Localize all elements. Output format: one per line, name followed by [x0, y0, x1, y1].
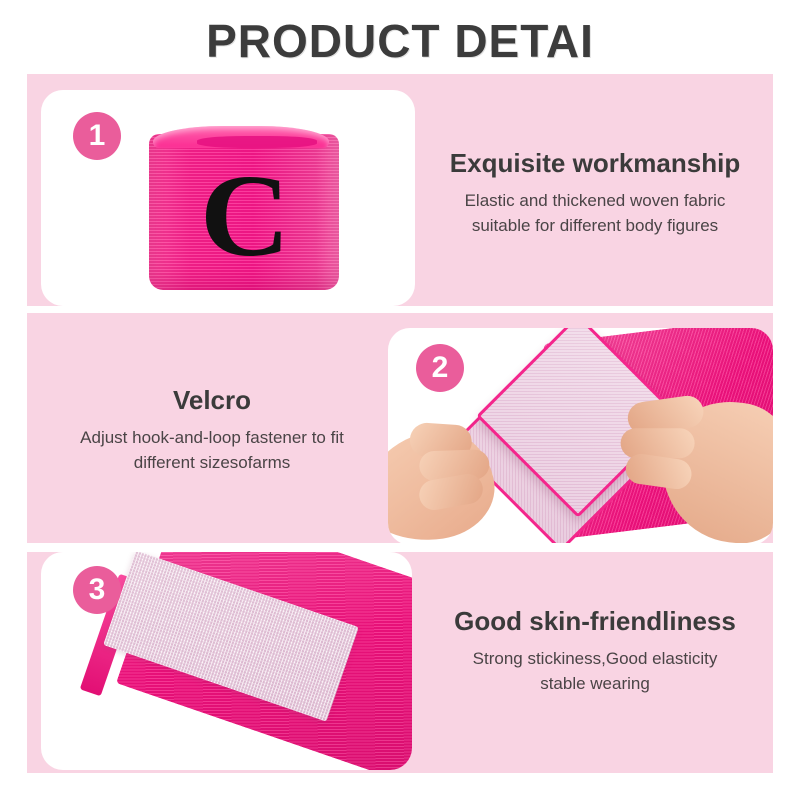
step-badge-3: 3	[73, 566, 121, 614]
feature-subline-2-line1: Adjust hook-and-loop fastener to fit	[37, 426, 387, 451]
feature-image-card-1: 1 C	[41, 90, 415, 306]
feature-subline-3-line2: stable wearing	[419, 672, 771, 697]
feature-text-3: Good skin-friendliness Strong stickiness…	[419, 607, 771, 696]
feature-image-card-2: 2	[388, 328, 773, 543]
feature-subline-1-line1: Elastic and thickened woven fabric	[419, 189, 771, 214]
feature-panel-2: Velcro Adjust hook-and-loop fastener to …	[27, 313, 773, 543]
step-badge-1: 1	[73, 112, 121, 160]
finger	[621, 428, 695, 458]
feature-headline-1: Exquisite workmanship	[419, 149, 771, 179]
feature-subline-2-line2: different sizesofarms	[37, 451, 387, 476]
armband-image-1: C	[131, 118, 351, 293]
page-title: PRODUCT DETAI	[0, 14, 800, 68]
feature-image-card-3: 3	[41, 552, 412, 770]
feature-subline-3-line1: Strong stickiness,Good elasticity	[419, 647, 771, 672]
feature-headline-3: Good skin-friendliness	[419, 607, 771, 637]
armband-body: C	[149, 134, 339, 290]
armband-inner-shadow	[197, 136, 317, 148]
step-badge-2: 2	[416, 344, 464, 392]
feature-text-1: Exquisite workmanship Elastic and thicke…	[419, 149, 771, 238]
feature-headline-2: Velcro	[37, 386, 387, 416]
feature-panel-1: 1 C Exquisite workmanship Elastic and th…	[27, 74, 773, 306]
product-detail-infographic: PRODUCT DETAI 1 C Exquisite workmanship …	[0, 0, 800, 800]
feature-panel-3: 3 Good skin-friendliness Strong stickine…	[27, 552, 773, 773]
feature-text-2: Velcro Adjust hook-and-loop fastener to …	[37, 386, 387, 475]
armband-top-edge	[153, 126, 329, 148]
feature-subline-1-line2: suitable for different body figures	[419, 214, 771, 239]
armband-letter: C	[143, 138, 344, 294]
